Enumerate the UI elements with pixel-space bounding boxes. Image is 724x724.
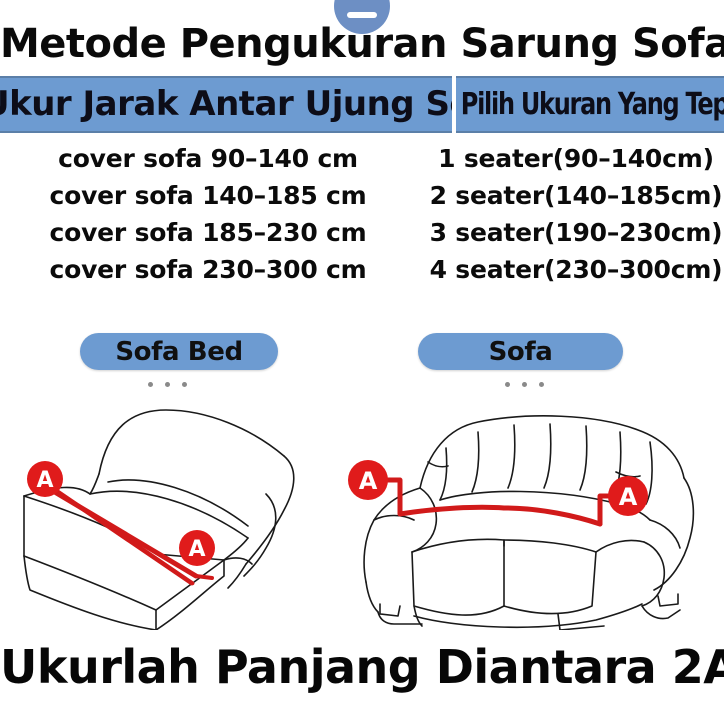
- sofa-pill: Sofa: [418, 333, 623, 370]
- list-item: 4 seater(230–300cm): [416, 251, 724, 288]
- size-lists: cover sofa 90–140 cm cover sofa 140–185 …: [0, 140, 724, 290]
- svg-text:A: A: [188, 537, 205, 562]
- header-band-left-label: Ukur Jarak Antar Ujung Sofa: [0, 78, 452, 131]
- dot-icon: [182, 382, 187, 387]
- marker-a-left: A: [27, 461, 63, 497]
- marker-a-left: A: [348, 460, 388, 500]
- list-item: 3 seater(190–230cm): [416, 214, 724, 251]
- size-list-left: cover sofa 90–140 cm cover sofa 140–185 …: [0, 140, 416, 290]
- list-item: cover sofa 140–185 cm: [0, 177, 416, 214]
- svg-text:A: A: [359, 467, 378, 495]
- dot-icon: [522, 382, 527, 387]
- marker-a-right: A: [608, 476, 648, 516]
- page-title: Metode Pengukuran Sarung Sofa: [0, 16, 724, 72]
- list-item: 1 seater(90–140cm): [416, 140, 724, 177]
- sofa-bed-dots: [148, 382, 187, 387]
- sofa-illustration: A A: [328, 392, 724, 630]
- infographic-page: Metode Pengukuran Sarung Sofa Ukur Jarak…: [0, 0, 724, 724]
- dot-icon: [505, 382, 510, 387]
- dot-icon: [148, 382, 153, 387]
- dot-icon: [165, 382, 170, 387]
- list-item: cover sofa 230–300 cm: [0, 251, 416, 288]
- header-band-right: Pilih Ukuran Yang Tepat: [456, 76, 724, 133]
- sofa-pill-label: Sofa: [489, 337, 553, 367]
- sofa-dots: [505, 382, 544, 387]
- bottom-caption: Ukurlah Panjang Diantara 2A: [0, 636, 724, 698]
- marker-a-right: A: [179, 530, 215, 566]
- header-band-right-label: Pilih Ukuran Yang Tepat: [456, 78, 688, 131]
- header-band-left: Ukur Jarak Antar Ujung Sofa: [0, 76, 452, 133]
- list-item: cover sofa 185–230 cm: [0, 214, 416, 251]
- sofa-bed-illustration: A A: [0, 398, 336, 630]
- dot-icon: [539, 382, 544, 387]
- size-list-right: 1 seater(90–140cm) 2 seater(140–185cm) 3…: [416, 140, 724, 290]
- header-band-row: Ukur Jarak Antar Ujung Sofa Pilih Ukuran…: [0, 76, 724, 133]
- list-item: 2 seater(140–185cm): [416, 177, 724, 214]
- sofa-bed-pill: Sofa Bed: [80, 333, 278, 370]
- sofa-bed-pill-label: Sofa Bed: [115, 337, 242, 367]
- list-item: cover sofa 90–140 cm: [0, 140, 416, 177]
- svg-text:A: A: [36, 468, 53, 493]
- svg-text:A: A: [619, 483, 638, 511]
